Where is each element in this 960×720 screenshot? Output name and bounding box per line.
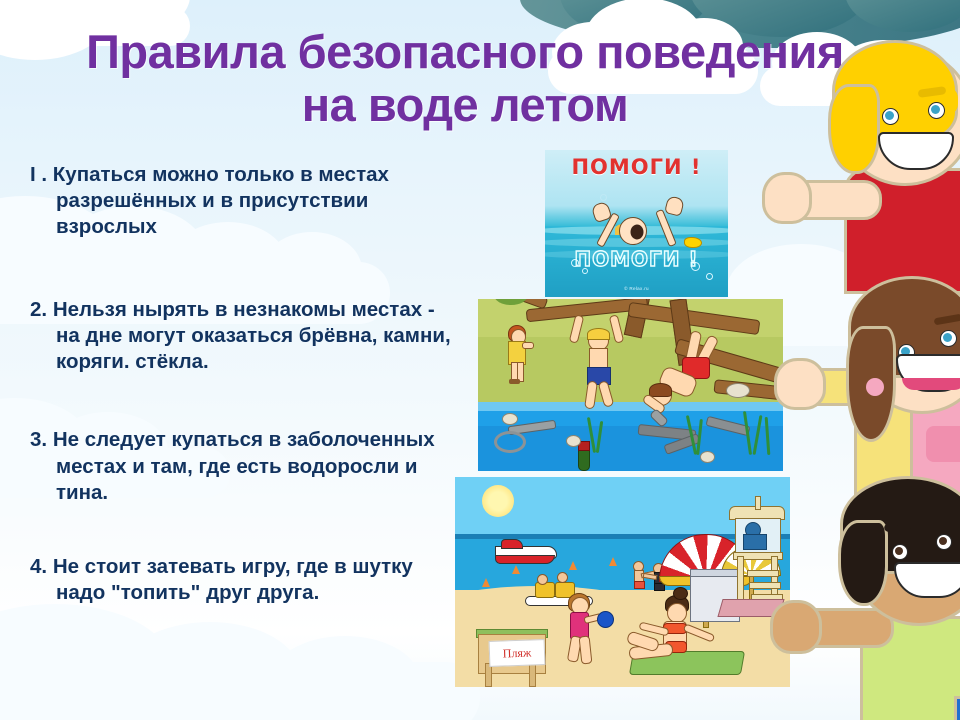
- beach-sign-label: Пляж: [488, 639, 545, 667]
- rule-text-1: Купаться можно только в местах разрешённ…: [53, 163, 389, 238]
- girl-hair-tie: [866, 378, 884, 396]
- sign-leg: [529, 663, 536, 687]
- child-blonde-boy: [806, 30, 960, 280]
- swimmer-open-mouth: [630, 225, 643, 240]
- rule-number-2: 2.: [30, 298, 47, 321]
- boy-eye-right: [936, 534, 952, 550]
- boy-hair: [587, 328, 610, 340]
- boy-eye-left: [882, 108, 899, 125]
- buoy: [569, 561, 577, 570]
- boy-eye-left: [892, 544, 908, 560]
- rule-number-3: 3.: [30, 428, 47, 451]
- watermark: © Relax.ru: [545, 286, 728, 291]
- buoy: [482, 578, 490, 587]
- girl-arm: [522, 342, 534, 349]
- rule-item-3: 3. Не следует купаться в заболоченных ме…: [30, 427, 460, 506]
- girl-hand: [774, 358, 826, 410]
- rule-number-4: 4.: [30, 555, 47, 578]
- beach-ball: [597, 611, 614, 628]
- bubble: [600, 194, 607, 201]
- overalls-pocket: [926, 426, 960, 462]
- rule-item-2: 2. Нельзя нырять в незнакомы местах - на…: [30, 297, 460, 376]
- slide: Правила безопасного поведения на воде ле…: [0, 0, 960, 720]
- drowning-caption-top: ПОМОГИ !: [545, 155, 728, 179]
- stone: [566, 435, 581, 447]
- girl-smile: [896, 354, 960, 392]
- buoy: [512, 565, 520, 574]
- stone: [700, 451, 715, 463]
- boy-eye-right: [928, 102, 945, 119]
- picture-diving-into-river: [478, 299, 783, 471]
- girl-eye-right: [940, 330, 957, 347]
- boy-hand: [770, 600, 822, 654]
- picture-beach: Пляж: [455, 477, 790, 687]
- buoy: [609, 557, 617, 566]
- drowning-caption-bottom: ПОМОГИ !: [545, 247, 728, 271]
- diver-hair: [649, 383, 672, 397]
- rule-text-2: Нельзя нырять в незнакомы местах - на дн…: [53, 298, 451, 373]
- stone: [726, 383, 750, 398]
- rule-text-4: Не стоит затевать игру, где в шутку надо…: [53, 555, 413, 604]
- rules-list: I . Купаться можно только в местах разре…: [30, 162, 460, 655]
- girl-tongue: [902, 378, 960, 390]
- rule-item-4: 4. Не стоит затевать игру, где в шутку н…: [30, 554, 460, 606]
- water-surface-line: [478, 402, 783, 411]
- page-title: Правила безопасного поведения на воде ле…: [60, 26, 870, 131]
- boy-hair-side: [838, 520, 888, 606]
- girl-shoe: [509, 379, 520, 384]
- boy-hair-side: [828, 84, 880, 174]
- boy-shorts: [954, 696, 960, 720]
- cabin-roof: [690, 569, 740, 577]
- boy-hand: [762, 172, 812, 224]
- lifeguard-body: [743, 534, 767, 550]
- stone: [502, 413, 518, 425]
- rule-number-1: I .: [30, 163, 47, 186]
- rule-item-1: I . Купаться можно только в местах разре…: [30, 162, 460, 241]
- picture-drowning-swimmer: ПОМОГИ ! ПОМОГИ ! © Relax.ru: [545, 150, 728, 297]
- child-dark-haired-boy: [806, 490, 960, 720]
- rule-text-3: Не следует купаться в заболоченных места…: [53, 428, 435, 503]
- sun-icon: [482, 485, 514, 517]
- underwater-debris-ring: [494, 431, 526, 453]
